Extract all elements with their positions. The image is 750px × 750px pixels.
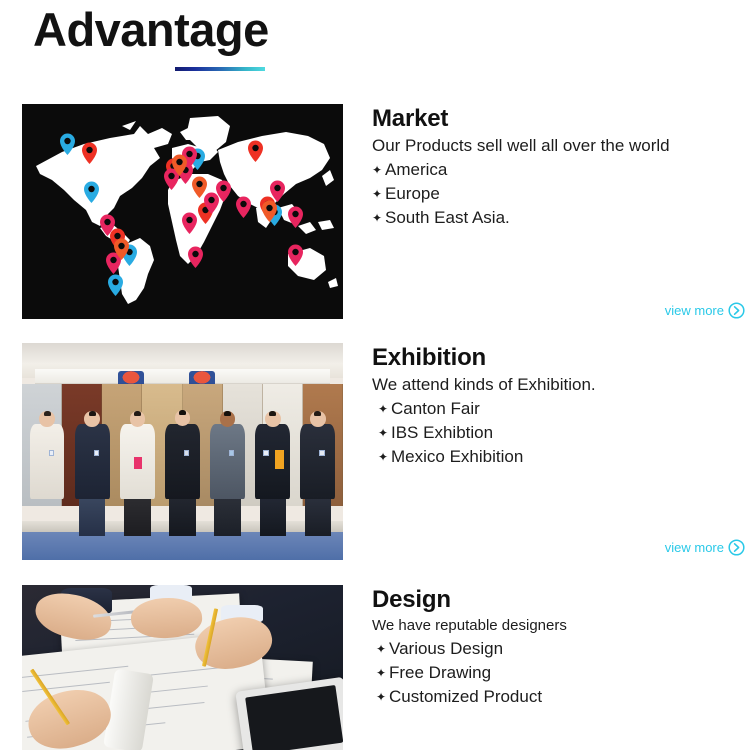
design-title: Design: [372, 585, 740, 615]
market-copy: Market Our Products sell well all over t…: [372, 104, 740, 230]
people-group: [28, 393, 336, 536]
market-title: Market: [372, 104, 740, 134]
design-photo-art: [22, 585, 343, 750]
circle-arrow-right-icon: [728, 302, 745, 319]
list-item-label: South East Asia.: [385, 208, 510, 227]
exhibition-photo-art: [22, 343, 343, 560]
person: [28, 393, 66, 536]
view-more-label: view more: [665, 540, 724, 555]
list-item-label: America: [385, 160, 447, 179]
list-item: ✦Europe: [372, 182, 740, 206]
person: [299, 393, 337, 536]
diamond-bullet-icon: ✦: [378, 421, 388, 445]
list-item-label: Various Design: [389, 639, 503, 658]
section-exhibition: Exhibition We attend kinds of Exhibition…: [0, 343, 750, 561]
market-bullet-list: ✦America ✦Europe ✦South East Asia.: [372, 158, 740, 230]
person: [74, 393, 112, 536]
title-underline-accent: [175, 67, 265, 71]
list-item: ✦Free Drawing: [376, 661, 740, 685]
design-subtitle: We have reputable designers: [372, 615, 740, 637]
list-item-label: IBS Exhibtion: [391, 423, 493, 442]
list-item-label: Customized Product: [389, 687, 542, 706]
view-more-label: view more: [665, 303, 724, 318]
exhibition-bullet-list: ✦Canton Fair ✦IBS Exhibtion ✦Mexico Exhi…: [372, 397, 740, 469]
design-bullet-list: ✦Various Design ✦Free Drawing ✦Customize…: [372, 637, 740, 709]
diamond-bullet-icon: ✦: [372, 206, 382, 230]
page-title: Advantage: [33, 2, 363, 58]
diamond-bullet-icon: ✦: [378, 397, 388, 421]
list-item-label: Europe: [385, 184, 440, 203]
booth-banner: [35, 369, 330, 384]
design-copy: Design We have reputable designers ✦Vari…: [372, 585, 740, 709]
list-item: ✦America: [372, 158, 740, 182]
view-more-link-market[interactable]: view more: [665, 302, 745, 319]
person: [164, 393, 202, 536]
person: [254, 393, 292, 536]
view-more-link-exhibition[interactable]: view more: [665, 539, 745, 556]
list-item: ✦Mexico Exhibition: [378, 445, 740, 469]
diamond-bullet-icon: ✦: [372, 182, 382, 206]
diamond-bullet-icon: ✦: [376, 685, 386, 709]
list-item-label: Mexico Exhibition: [391, 447, 523, 466]
world-map-art: [22, 104, 343, 319]
page-title-block: Advantage: [33, 2, 363, 80]
list-item: ✦IBS Exhibtion: [378, 421, 740, 445]
section-design: Design We have reputable designers ✦Vari…: [0, 585, 750, 750]
list-item-label: Canton Fair: [391, 399, 480, 418]
list-item: ✦Customized Product: [376, 685, 740, 709]
exhibition-copy: Exhibition We attend kinds of Exhibition…: [372, 343, 740, 469]
list-item: ✦South East Asia.: [372, 206, 740, 230]
world-map-image: [22, 104, 343, 319]
design-photo: [22, 585, 343, 750]
exhibition-photo: [22, 343, 343, 560]
person: [209, 393, 247, 536]
section-market: Market Our Products sell well all over t…: [0, 104, 750, 320]
advantage-page: Advantage: [0, 0, 750, 750]
diamond-bullet-icon: ✦: [372, 158, 382, 182]
diamond-bullet-icon: ✦: [376, 661, 386, 685]
diamond-bullet-icon: ✦: [376, 637, 386, 661]
exhibition-title: Exhibition: [372, 343, 740, 373]
person: [119, 393, 157, 536]
exhibition-subtitle: We attend kinds of Exhibition.: [372, 373, 740, 397]
circle-arrow-right-icon: [728, 539, 745, 556]
list-item-label: Free Drawing: [389, 663, 491, 682]
list-item: ✦Various Design: [376, 637, 740, 661]
list-item: ✦Canton Fair: [378, 397, 740, 421]
diamond-bullet-icon: ✦: [378, 445, 388, 469]
market-subtitle: Our Products sell well all over the worl…: [372, 134, 740, 158]
